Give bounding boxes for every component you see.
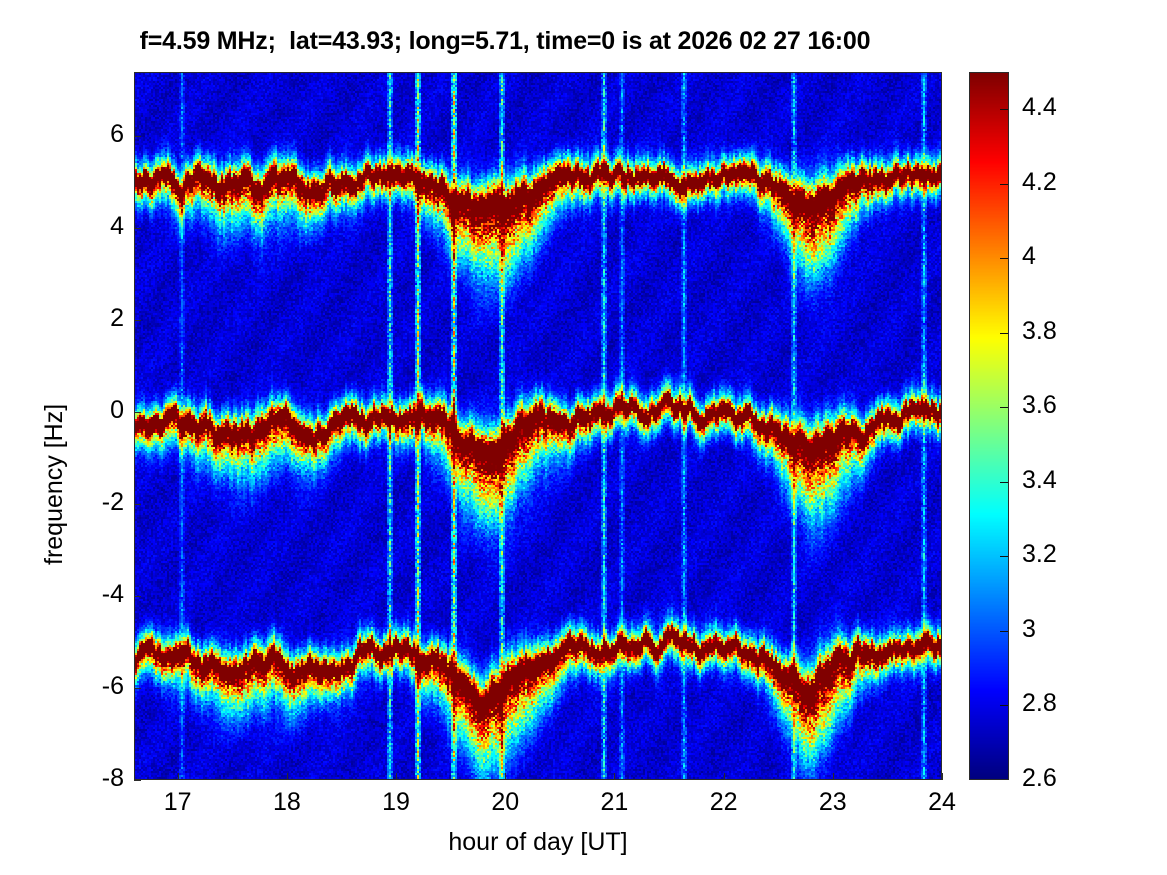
- x-tick-mark: [833, 773, 834, 780]
- y-tick-label: 0: [60, 396, 124, 425]
- y-tick-mark: [134, 688, 141, 689]
- colorbar-tick-label: 3.4: [1022, 466, 1057, 495]
- x-tick-mark: [724, 773, 725, 780]
- colorbar-tick-mark: [1000, 407, 1008, 408]
- colorbar-tick-label: 4: [1022, 242, 1036, 271]
- colorbar-gradient: [970, 73, 1008, 779]
- plot-title: f=4.59 MHz; lat=43.93; long=5.71, time=0…: [0, 27, 1010, 56]
- y-tick-label: -2: [60, 488, 124, 517]
- colorbar-tick-mark: [1000, 109, 1008, 110]
- colorbar-tick-mark: [1000, 556, 1008, 557]
- colorbar-tick-mark: [1000, 333, 1008, 334]
- x-tick-label: 19: [366, 788, 426, 817]
- y-tick-label: -6: [60, 672, 124, 701]
- spectrogram-image[interactable]: [135, 73, 942, 780]
- y-tick-mark: [134, 412, 141, 413]
- x-tick-mark: [505, 773, 506, 780]
- colorbar-tick-label: 3.2: [1022, 540, 1057, 569]
- colorbar-tick-mark: [1000, 482, 1008, 483]
- y-tick-label: 4: [60, 212, 124, 241]
- x-tick-label: 20: [475, 788, 535, 817]
- y-tick-mark: [134, 320, 141, 321]
- x-tick-label: 24: [912, 788, 972, 817]
- x-axis-label: hour of day [UT]: [134, 828, 942, 857]
- colorbar-tick-mark: [1000, 258, 1008, 259]
- y-tick-mark: [134, 136, 141, 137]
- x-tick-label: 23: [803, 788, 863, 817]
- x-tick-mark: [942, 773, 943, 780]
- y-tick-label: -8: [60, 764, 124, 793]
- y-tick-mark: [134, 780, 141, 781]
- spectrogram-axes[interactable]: [134, 72, 942, 780]
- x-tick-label: 21: [584, 788, 644, 817]
- colorbar-tick-label: 3.8: [1022, 317, 1057, 346]
- y-axis-label: frequency [Hz]: [40, 404, 69, 565]
- x-tick-mark: [614, 773, 615, 780]
- colorbar-tick-mark: [1000, 705, 1008, 706]
- colorbar-tick-label: 4.4: [1022, 93, 1057, 122]
- colorbar-tick-label: 2.8: [1022, 689, 1057, 718]
- colorbar-tick-label: 4.2: [1022, 168, 1057, 197]
- x-tick-label: 22: [694, 788, 754, 817]
- y-tick-mark: [134, 504, 141, 505]
- colorbar[interactable]: [969, 72, 1009, 780]
- colorbar-tick-mark: [1000, 184, 1008, 185]
- colorbar-tick-label: 3.6: [1022, 391, 1057, 420]
- x-tick-mark: [396, 773, 397, 780]
- x-tick-mark: [178, 773, 179, 780]
- colorbar-tick-label: 2.6: [1022, 764, 1057, 793]
- x-tick-label: 17: [148, 788, 208, 817]
- y-tick-label: 6: [60, 120, 124, 149]
- y-tick-mark: [134, 228, 141, 229]
- colorbar-tick-mark: [1000, 631, 1008, 632]
- figure-canvas: f=4.59 MHz; lat=43.93; long=5.71, time=0…: [0, 0, 1167, 875]
- y-tick-mark: [134, 596, 141, 597]
- colorbar-tick-label: 3: [1022, 615, 1036, 644]
- x-tick-mark: [287, 773, 288, 780]
- x-tick-label: 18: [257, 788, 317, 817]
- y-tick-label: -4: [60, 580, 124, 609]
- y-tick-label: 2: [60, 304, 124, 333]
